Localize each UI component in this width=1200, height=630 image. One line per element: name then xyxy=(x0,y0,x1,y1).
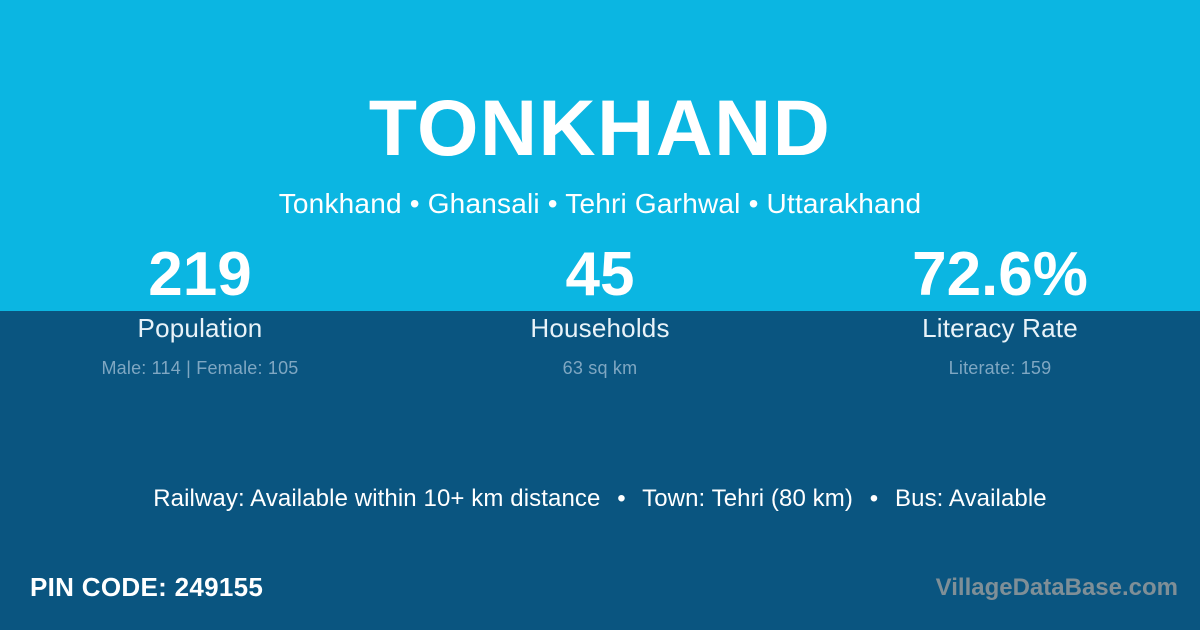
transport-town: Town: Tehri (80 km) xyxy=(642,485,853,512)
stat-households-value: 45 xyxy=(400,244,800,310)
transport-bus: Bus: Available xyxy=(895,485,1047,512)
stat-literacy-sub: Literate: 159 xyxy=(800,341,1200,377)
footer: PIN CODE: 249155 VillageDataBase.com xyxy=(0,558,1200,630)
stat-literacy: 72.6% Literacy Rate Literate: 159 xyxy=(800,244,1200,377)
stat-population-label: Population xyxy=(0,310,400,341)
transport-separator-1: • xyxy=(607,487,636,511)
stat-population-value: 219 xyxy=(0,244,400,310)
village-info-card: TONKHAND Tonkhand • Ghansali • Tehri Gar… xyxy=(0,0,1200,630)
stat-literacy-value: 72.6% xyxy=(800,244,1200,310)
breadcrumb: Tonkhand • Ghansali • Tehri Garhwal • Ut… xyxy=(0,167,1200,218)
transport-info-line: Railway: Available within 10+ km distanc… xyxy=(0,487,1200,511)
pin-code: PIN CODE: 249155 xyxy=(30,574,263,600)
page-title: TONKHAND xyxy=(0,0,1200,167)
stat-population-sub: Male: 114 | Female: 105 xyxy=(0,341,400,377)
stat-households-label: Households xyxy=(400,310,800,341)
stat-literacy-label: Literacy Rate xyxy=(800,310,1200,341)
stat-households-sub: 63 sq km xyxy=(400,341,800,377)
transport-separator-2: • xyxy=(860,487,889,511)
site-watermark: VillageDataBase.com xyxy=(936,576,1178,600)
stats-row: 219 Population Male: 114 | Female: 105 4… xyxy=(0,244,1200,377)
transport-railway: Railway: Available within 10+ km distanc… xyxy=(153,485,600,512)
header-block: TONKHAND Tonkhand • Ghansali • Tehri Gar… xyxy=(0,0,1200,218)
stat-households: 45 Households 63 sq km xyxy=(400,244,800,377)
stat-population: 219 Population Male: 114 | Female: 105 xyxy=(0,244,400,377)
